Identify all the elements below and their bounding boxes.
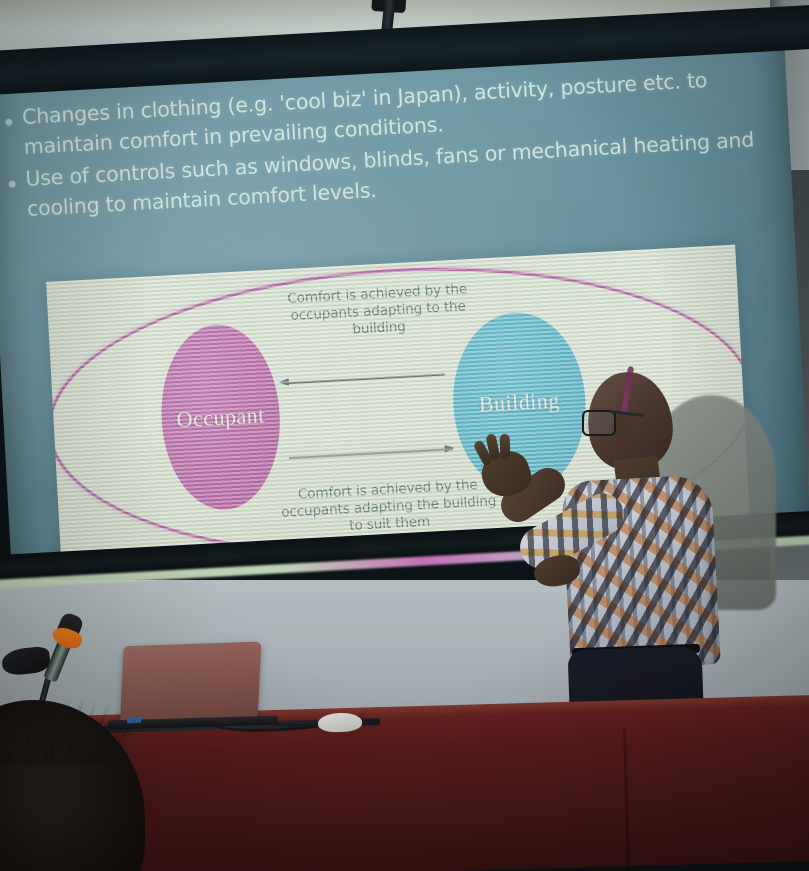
eyeglasses-icon <box>582 410 616 436</box>
presenter-finger <box>500 434 511 460</box>
lecture-photo-scene: The modification can take two forms Chan… <box>0 0 809 871</box>
bullet-dot-icon <box>9 180 16 187</box>
foreground-audience-hair <box>0 694 120 764</box>
hair-strand <box>41 712 46 764</box>
arrow-head-right-icon <box>444 444 454 453</box>
diagram-node-occupant-label: Occupant <box>176 402 266 433</box>
arrow-head-left-icon <box>279 378 289 387</box>
bullet-dot-icon <box>5 119 12 126</box>
